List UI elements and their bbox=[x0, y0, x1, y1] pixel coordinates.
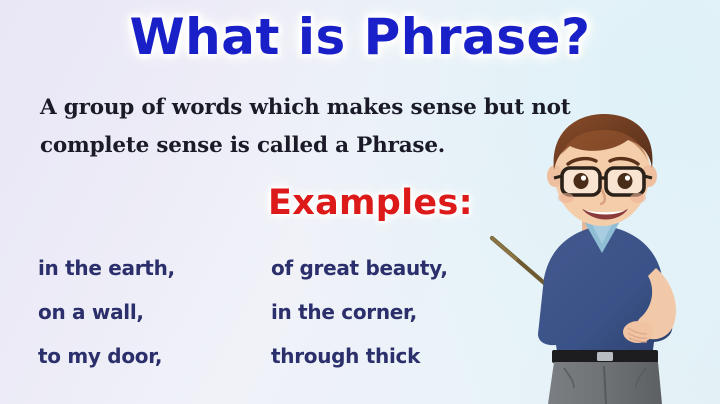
definition-line-2: complete sense is called a Phrase. bbox=[40, 127, 560, 165]
cheek-left bbox=[558, 193, 574, 203]
eye-right-glint bbox=[625, 175, 630, 180]
phrase-poster: What is Phrase? A group of words which m… bbox=[0, 0, 720, 404]
cheek-right bbox=[630, 193, 646, 203]
eye-right bbox=[618, 173, 633, 189]
definition-line-1: A group of words which makes sense but n… bbox=[40, 89, 560, 127]
definition-text: A group of words which makes sense but n… bbox=[40, 89, 560, 165]
example-item: through thick bbox=[271, 334, 448, 378]
example-item: of great beauty, bbox=[271, 246, 448, 290]
right-hand bbox=[623, 321, 653, 343]
example-item: in the corner, bbox=[271, 290, 448, 334]
examples-heading: Examples: bbox=[268, 183, 473, 223]
examples-column-right: of great beauty, in the corner, through … bbox=[271, 246, 448, 378]
example-item: in the earth, bbox=[38, 246, 175, 290]
belt-buckle bbox=[597, 352, 613, 361]
examples-column-left: in the earth, on a wall, to my door, bbox=[38, 246, 175, 378]
page-title: What is Phrase? bbox=[0, 8, 720, 66]
example-item: to my door, bbox=[38, 334, 175, 378]
eye-left-glint bbox=[581, 175, 586, 180]
eye-left bbox=[574, 173, 589, 189]
teacher-illustration bbox=[486, 110, 720, 404]
example-item: on a wall, bbox=[38, 290, 175, 334]
